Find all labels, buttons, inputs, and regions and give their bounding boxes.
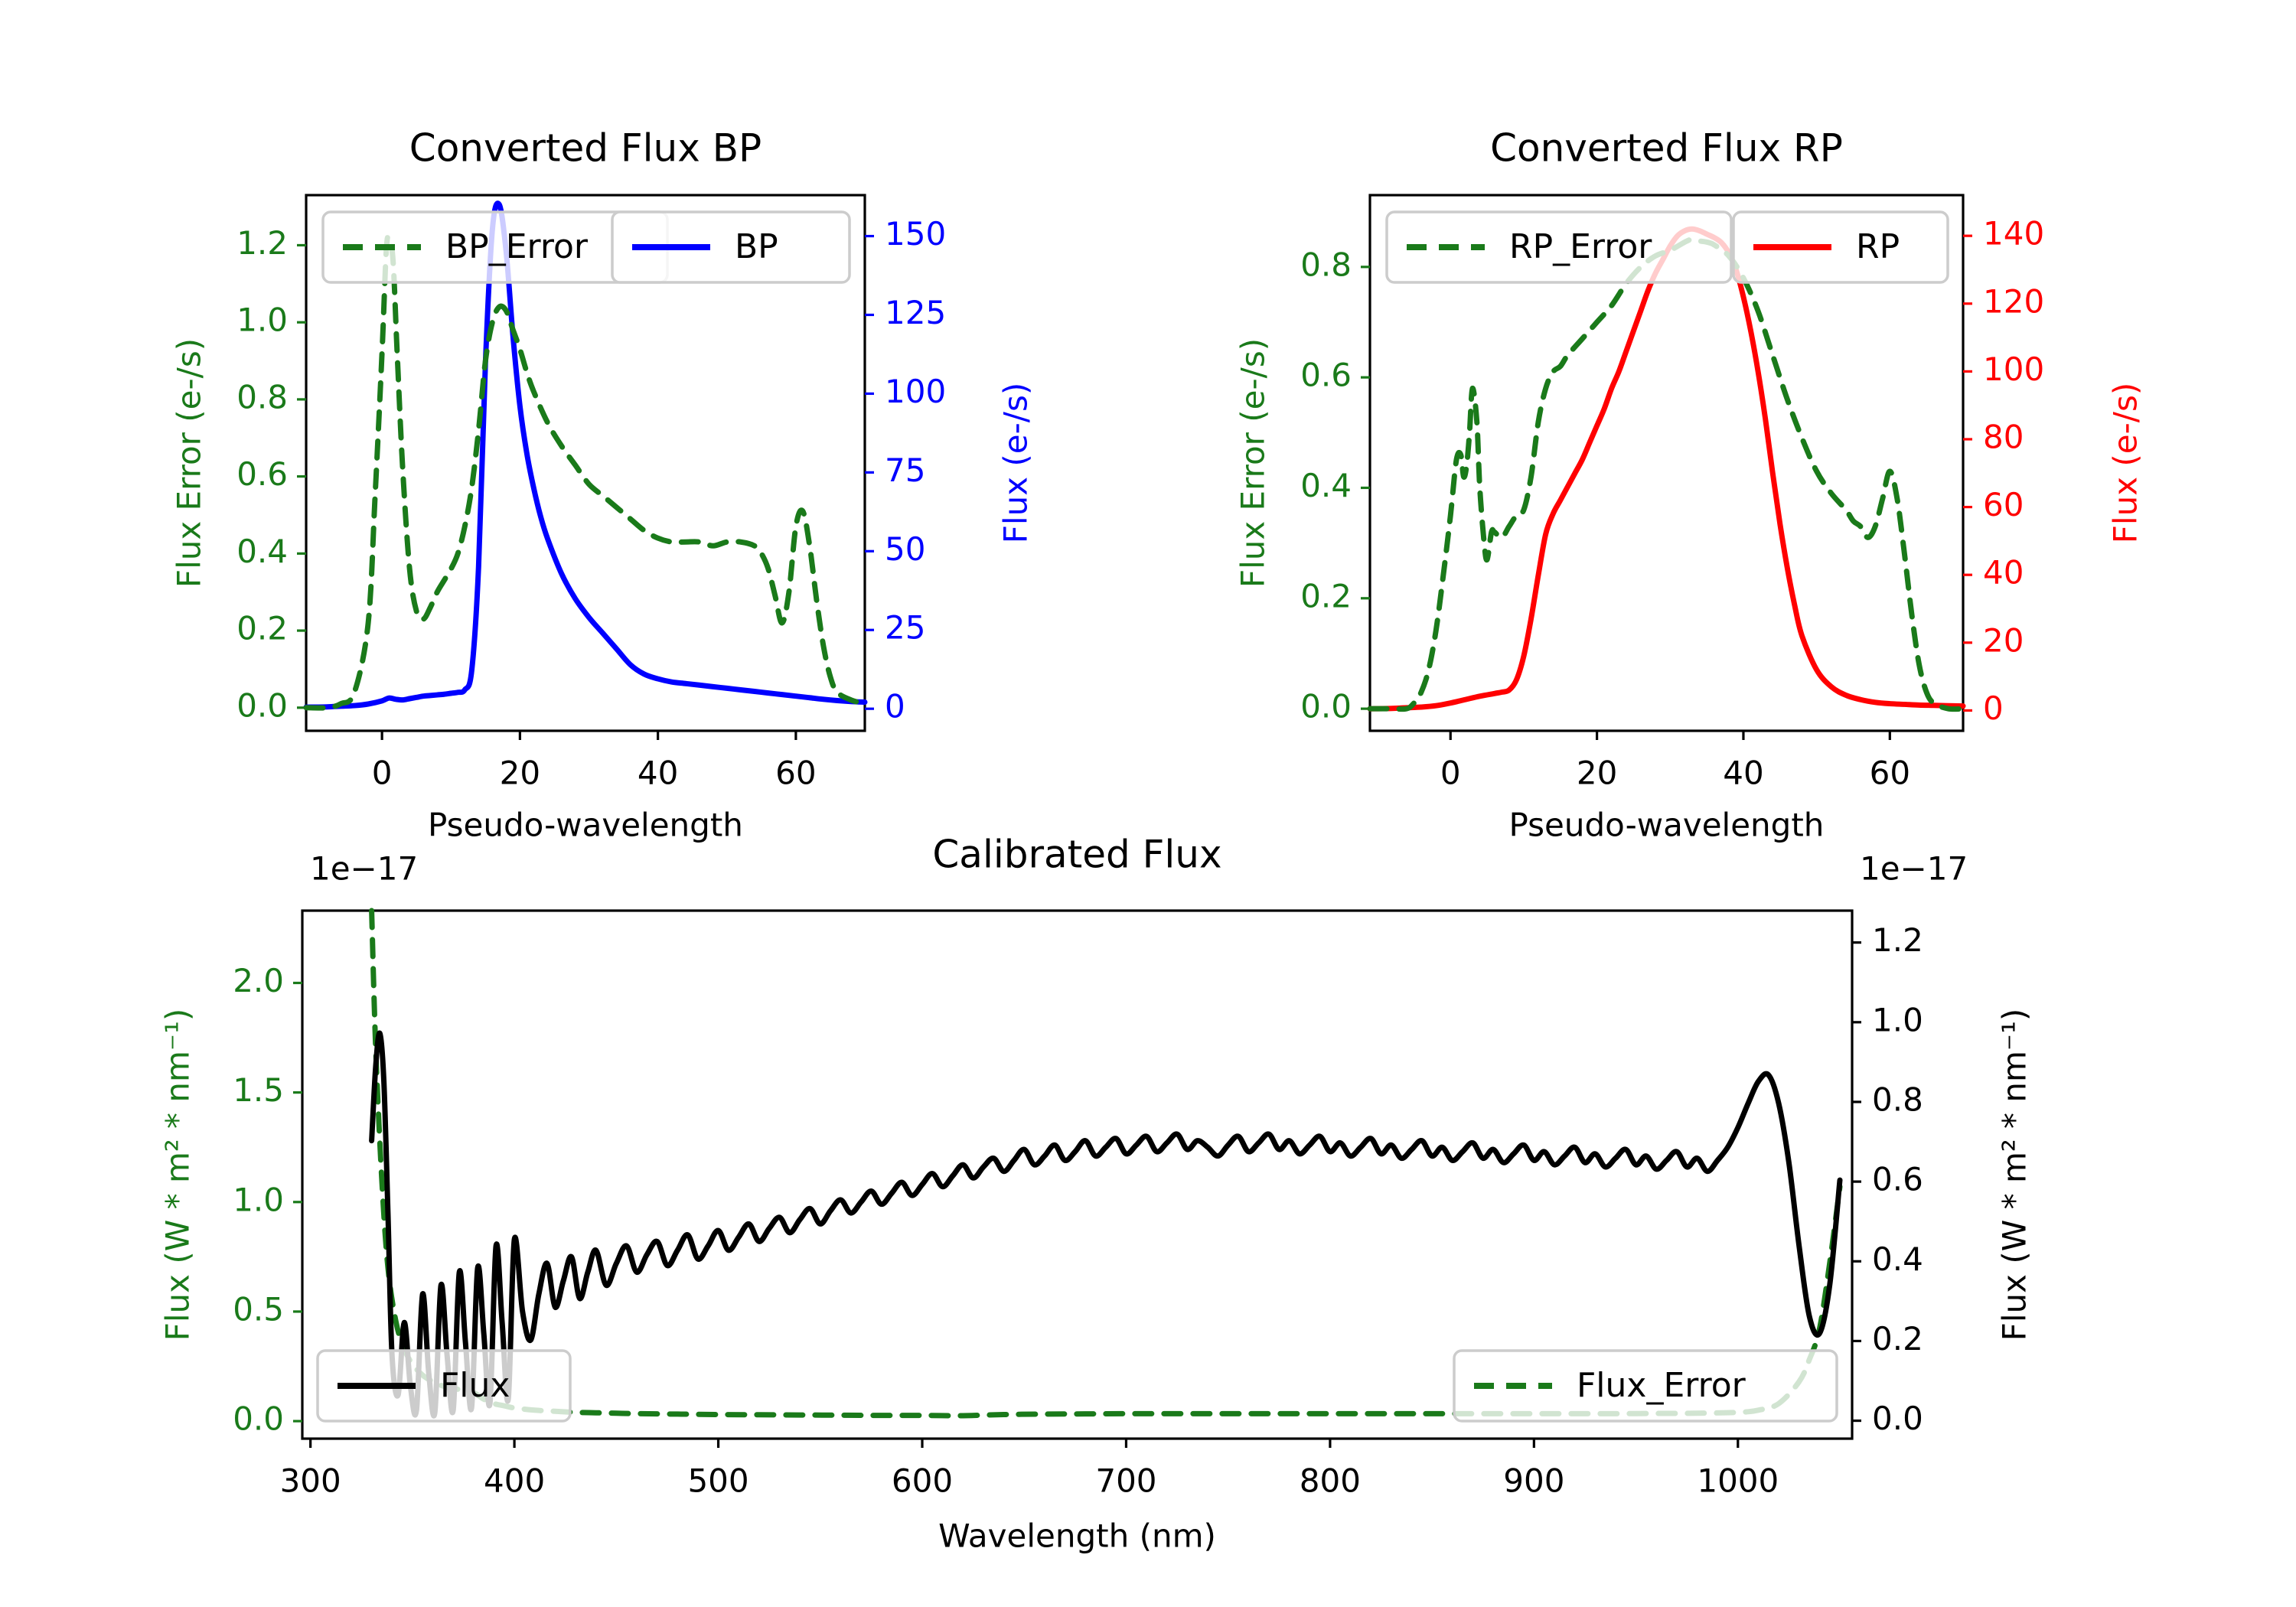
- calibrated-y-left-label: 1.5: [233, 1071, 284, 1109]
- bp-y-left-label: 0.2: [236, 610, 288, 647]
- bp-ylabel-left: Flux Error (e-/s): [171, 338, 208, 588]
- bp-y-right-label: 25: [885, 609, 925, 647]
- rp-y-right-label: 0: [1983, 689, 2004, 727]
- calibrated-y-right-label: 0.6: [1872, 1161, 1923, 1198]
- rp-y-right-label: 100: [1983, 350, 2044, 388]
- bp-xlabel: Pseudo-wavelength: [428, 807, 743, 844]
- bp-legend-error-label: BP_Error: [445, 227, 589, 266]
- bp-x-label: 60: [775, 755, 816, 792]
- bp-y-left-label: 1.2: [236, 224, 288, 262]
- rp-xlabel: Pseudo-wavelength: [1509, 807, 1825, 844]
- rp-y-left-label: 0.4: [1300, 467, 1352, 504]
- rp-x-label: 60: [1870, 755, 1910, 792]
- bp-y-left-label: 0.8: [236, 378, 288, 416]
- calibrated-x-label: 600: [892, 1462, 953, 1500]
- calibrated-offset-right: 1e−17: [1860, 850, 1968, 888]
- calibrated-x-label: 1000: [1697, 1462, 1779, 1500]
- calibrated-x-label: 800: [1300, 1462, 1361, 1500]
- bp-y-left-label: 0.6: [236, 455, 288, 493]
- calibrated-x-label: 400: [484, 1462, 545, 1500]
- rp-error-curve: [1370, 240, 1963, 709]
- rp-legend-error-label: RP_Error: [1509, 227, 1652, 266]
- rp-x-label: 0: [1440, 755, 1461, 792]
- calibrated-x-label: 900: [1503, 1462, 1564, 1500]
- calibrated-x-label: 700: [1095, 1462, 1156, 1500]
- rp-x-label: 40: [1723, 755, 1763, 792]
- figure-canvas: Converted Flux BP02040600.00.20.40.60.81…: [0, 0, 2296, 1607]
- rp-ylabel-right: Flux (e-/s): [2107, 383, 2144, 543]
- rp-y-right-label: 40: [1983, 554, 2024, 592]
- bp-x-label: 20: [500, 755, 540, 792]
- bp-y-right-label: 0: [885, 688, 905, 725]
- calibrated-y-right-label: 0.2: [1872, 1320, 1923, 1358]
- rp-y-right-label: 60: [1983, 486, 2024, 523]
- bp-y-right-label: 125: [885, 294, 946, 331]
- rp-y-right-label: 140: [1983, 215, 2044, 253]
- bp-y-right-label: 75: [885, 451, 925, 489]
- figure-svg: Converted Flux BP02040600.00.20.40.60.81…: [0, 0, 2296, 1607]
- calibrated-y-right-label: 0.0: [1872, 1400, 1923, 1437]
- bp-title: Converted Flux BP: [409, 126, 762, 171]
- rp-x-label: 20: [1577, 755, 1617, 792]
- rp-y-left-label: 0.2: [1300, 577, 1352, 614]
- rp-y-right-label: 80: [1983, 418, 2024, 455]
- calibrated-y-left-label: 0.5: [233, 1290, 284, 1328]
- calibrated-y-right-label: 1.0: [1872, 1001, 1923, 1038]
- rp-title: Converted Flux RP: [1490, 126, 1843, 171]
- bp-y-right-label: 50: [885, 530, 925, 568]
- bp-y-left-label: 0.0: [236, 686, 288, 724]
- calibrated-xlabel: Wavelength (nm): [938, 1517, 1216, 1555]
- bp-y-left-label: 1.0: [236, 302, 288, 339]
- calibrated-y-left-label: 1.0: [233, 1181, 284, 1218]
- rp-y-right-label: 120: [1983, 282, 2044, 320]
- bp-y-right-label: 150: [885, 215, 946, 253]
- calibrated-ylabel-left: Flux (W * m² * nm⁻¹): [159, 1009, 197, 1341]
- bp-ylabel-right: Flux (e-/s): [997, 383, 1035, 543]
- rp-flux-curve: [1370, 229, 1963, 709]
- calibrated-y-right-label: 0.4: [1872, 1240, 1923, 1278]
- calibrated-offset-left: 1e−17: [310, 850, 418, 888]
- rp-ylabel-left: Flux Error (e-/s): [1234, 338, 1272, 588]
- calibrated-y-left-label: 2.0: [233, 962, 284, 999]
- bp-legend-flux-label: BP: [735, 227, 778, 266]
- rp-y-right-label: 20: [1983, 621, 2024, 659]
- rp-y-left-label: 0.8: [1300, 246, 1352, 283]
- bp-x-label: 0: [372, 755, 393, 792]
- calibrated-ylabel-right: Flux (W * m² * nm⁻¹): [1996, 1009, 2033, 1341]
- calibrated-y-right-label: 1.2: [1872, 921, 1923, 959]
- bp-y-left-label: 0.4: [236, 533, 288, 570]
- calibrated-x-label: 300: [280, 1462, 341, 1500]
- bp-x-label: 40: [638, 755, 678, 792]
- rp-y-left-label: 0.6: [1300, 357, 1352, 394]
- calibrated-y-left-label: 0.0: [233, 1400, 284, 1438]
- calibrated-error-curve: [372, 911, 1840, 1416]
- bp-y-right-label: 100: [885, 373, 946, 410]
- calibrated-legend-flux-label: Flux: [440, 1366, 510, 1405]
- calibrated-title: Calibrated Flux: [932, 833, 1221, 877]
- rp-legend-flux-label: RP: [1856, 227, 1900, 266]
- rp-y-left-label: 0.0: [1300, 688, 1352, 725]
- calibrated-y-right-label: 0.8: [1872, 1081, 1923, 1118]
- calibrated-legend-error-label: Flux_Error: [1577, 1366, 1746, 1405]
- calibrated-x-label: 500: [687, 1462, 748, 1500]
- bp-error-curve: [306, 236, 865, 708]
